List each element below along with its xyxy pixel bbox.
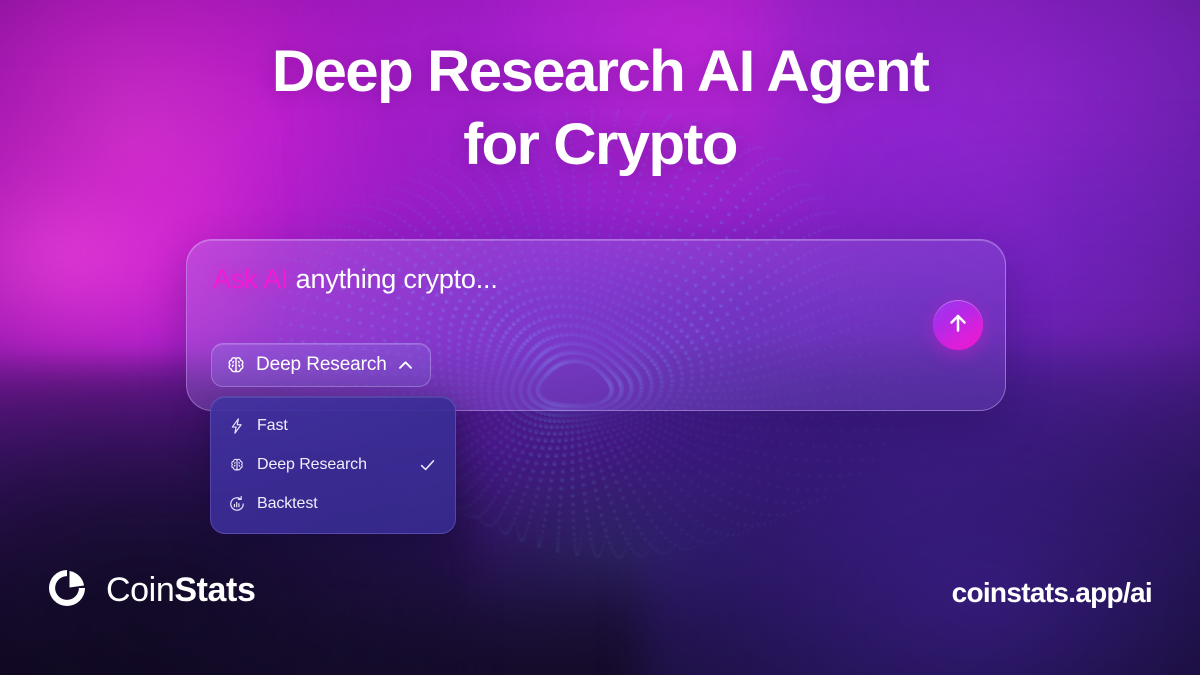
lightning-bolt-icon — [228, 417, 247, 435]
chevron-up-icon[interactable] — [396, 356, 415, 375]
brain-icon — [225, 354, 247, 376]
dropdown-item-deep-research[interactable]: Deep Research — [211, 445, 455, 484]
dropdown-item-label: Fast — [257, 417, 288, 435]
mode-chip-label: Deep Research — [256, 354, 387, 376]
site-url[interactable]: coinstats.app/ai — [952, 577, 1152, 609]
wordmark-coin: Coin — [106, 571, 174, 609]
search-placeholder-rest: anything crypto... — [288, 264, 497, 294]
search-placeholder[interactable]: Ask AI anything crypto... — [213, 264, 498, 295]
dropdown-item-fast[interactable]: Fast — [211, 406, 455, 445]
coinstats-logo[interactable]: CoinStats — [44, 565, 255, 616]
page-title: Deep Research AI Agent for Crypto — [0, 44, 1200, 174]
arrow-up-icon — [946, 311, 970, 340]
wordmark-stats: Stats — [174, 571, 255, 609]
send-button[interactable] — [933, 300, 983, 350]
mode-selector-chip[interactable]: Deep Research — [211, 343, 431, 387]
coinstats-wordmark: CoinStats — [106, 571, 255, 610]
search-placeholder-accent: Ask AI — [213, 264, 288, 294]
dropdown-item-backtest[interactable]: Backtest — [211, 484, 455, 523]
backtest-history-icon — [228, 495, 247, 513]
brain-icon — [228, 456, 247, 474]
check-icon — [418, 455, 437, 474]
dropdown-item-label: Backtest — [257, 495, 318, 513]
promo-banner: Deep Research AI Agent for Crypto Ask AI… — [0, 0, 1200, 675]
ai-search-panel[interactable]: Ask AI anything crypto... Deep Research — [186, 239, 1006, 411]
headline-line-2: for Crypto — [0, 117, 1200, 174]
coinstats-donut-logo — [44, 565, 90, 616]
dropdown-item-label: Deep Research — [257, 456, 367, 474]
headline-line-1: Deep Research AI Agent — [0, 44, 1200, 101]
mode-dropdown-menu[interactable]: Fast Deep Research — [210, 396, 456, 534]
